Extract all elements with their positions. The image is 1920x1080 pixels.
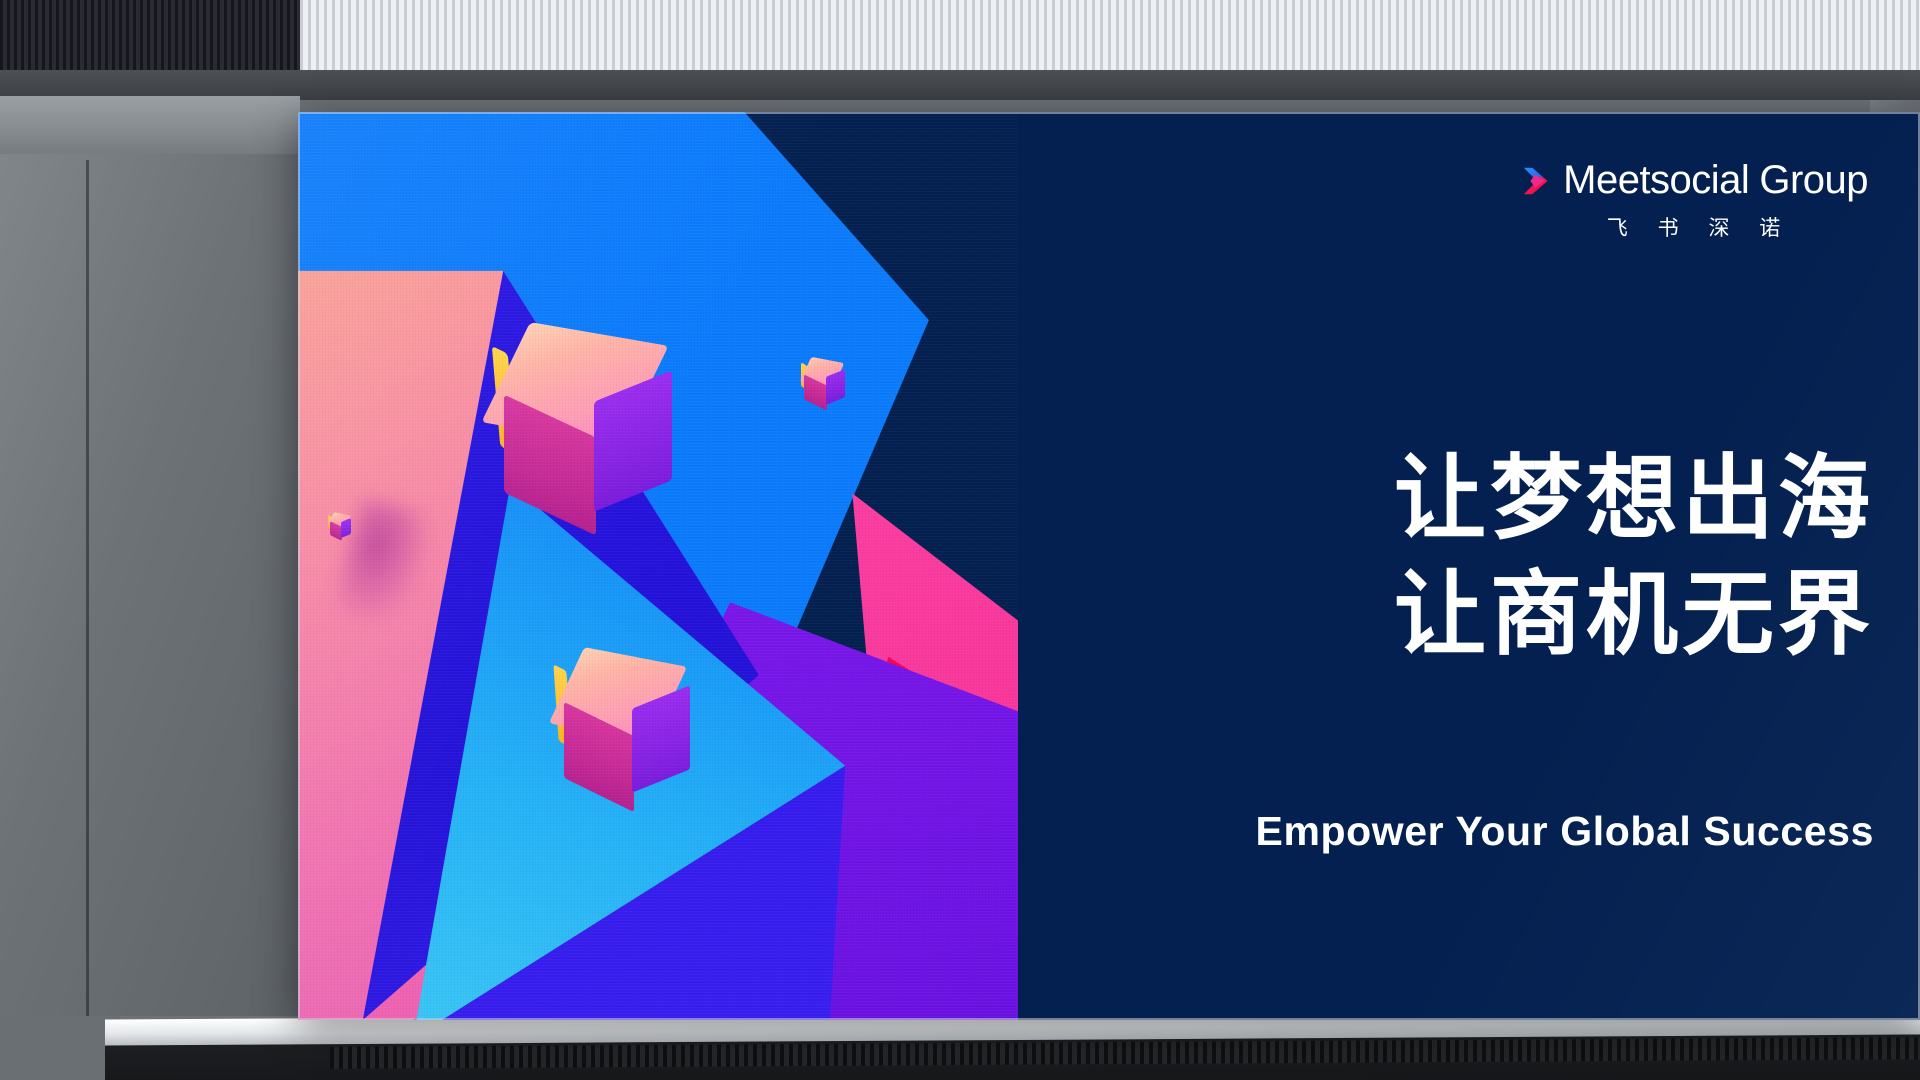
billboard-scene: MeetsocialGroup 飞 书 深 诺 让梦想出海 让商机无界 Empo… [0,0,1920,1080]
headline: 让梦想出海 让商机无界 [1394,442,1874,674]
wall-seam-line [86,160,89,1020]
wall-soffit-left [0,96,300,154]
display-content: MeetsocialGroup 飞 书 深 诺 让梦想出海 让商机无界 Empo… [1018,112,1920,1020]
wall-panel-left [0,96,300,1016]
logo-wordmark: MeetsocialGroup [1563,160,1868,200]
cube-large [494,334,679,519]
headline-line-1: 让梦想出海 [1394,442,1874,558]
cube-small-right-face [826,369,845,405]
cube-medium [556,657,701,802]
logo-chinese-name: 飞 书 深 诺 [1519,212,1880,242]
headline-line-2: 让商机无界 [1394,558,1874,674]
cube-small [801,360,853,412]
cube-tiny [328,514,358,544]
cube-tiny-right-face [341,518,351,538]
logo-wordmark-secondary: Group [1759,158,1868,202]
floor-strip [0,1016,120,1080]
brand-logo: MeetsocialGroup 飞 书 深 诺 [1519,160,1868,242]
logo-wordmark-primary: Meetsocial [1563,158,1749,202]
meetsocial-chevron-mark-icon [1519,162,1557,200]
artwork-panel [298,112,1018,1020]
logo-wordmark-row: MeetsocialGroup [1519,160,1868,200]
subheadline: Empower Your Global Success [1256,808,1875,855]
ceiling-slats-light [300,0,1920,75]
display-screen: MeetsocialGroup 飞 书 深 诺 让梦想出海 让商机无界 Empo… [298,112,1920,1020]
